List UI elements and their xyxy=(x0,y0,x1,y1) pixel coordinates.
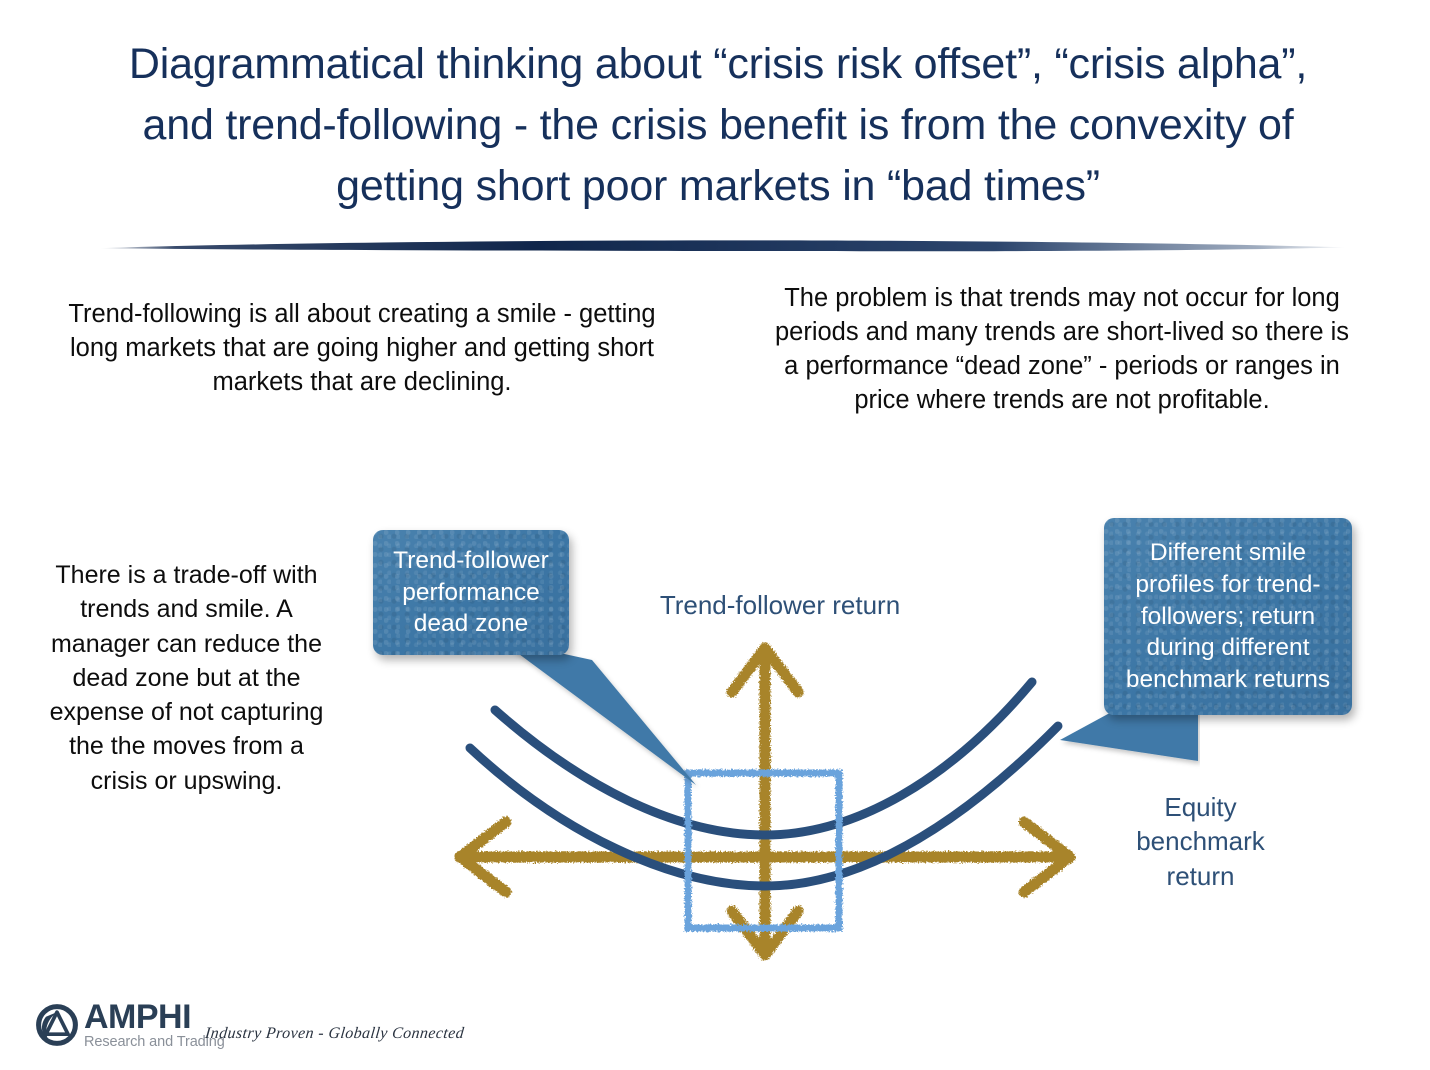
callout-smile-profiles[interactable]: Different smile profiles for trend-follo… xyxy=(1104,518,1352,715)
logo-name: AMPHI xyxy=(84,1000,225,1034)
callout-dead-zone[interactable]: Trend-follower performance dead zone xyxy=(373,530,569,655)
brand-logo: AMPHI Research and Trading xyxy=(34,1000,225,1050)
title-divider xyxy=(100,236,1345,258)
paragraph-trend-following: Trend-following is all about creating a … xyxy=(62,298,662,400)
callout-dead-zone-label: Trend-follower performance dead zone xyxy=(387,545,555,641)
amphi-logo-icon xyxy=(34,1002,80,1048)
callout-smile-profiles-label: Different smile profiles for trend-follo… xyxy=(1118,537,1338,696)
page-title: Diagrammatical thinking about “crisis ri… xyxy=(88,34,1348,217)
paragraph-dead-zone-problem: The problem is that trends may not occur… xyxy=(772,282,1352,418)
x-axis-label: Equity benchmark return xyxy=(1108,790,1293,893)
brand-tagline: Industry Proven - Globally Connected xyxy=(204,1025,465,1043)
paragraph-trade-off: There is a trade-off with trends and smi… xyxy=(44,558,329,798)
chart-axes xyxy=(732,648,798,955)
slide-canvas: Diagrammatical thinking about “crisis ri… xyxy=(0,0,1430,1070)
callout-tail-left xyxy=(500,640,730,810)
